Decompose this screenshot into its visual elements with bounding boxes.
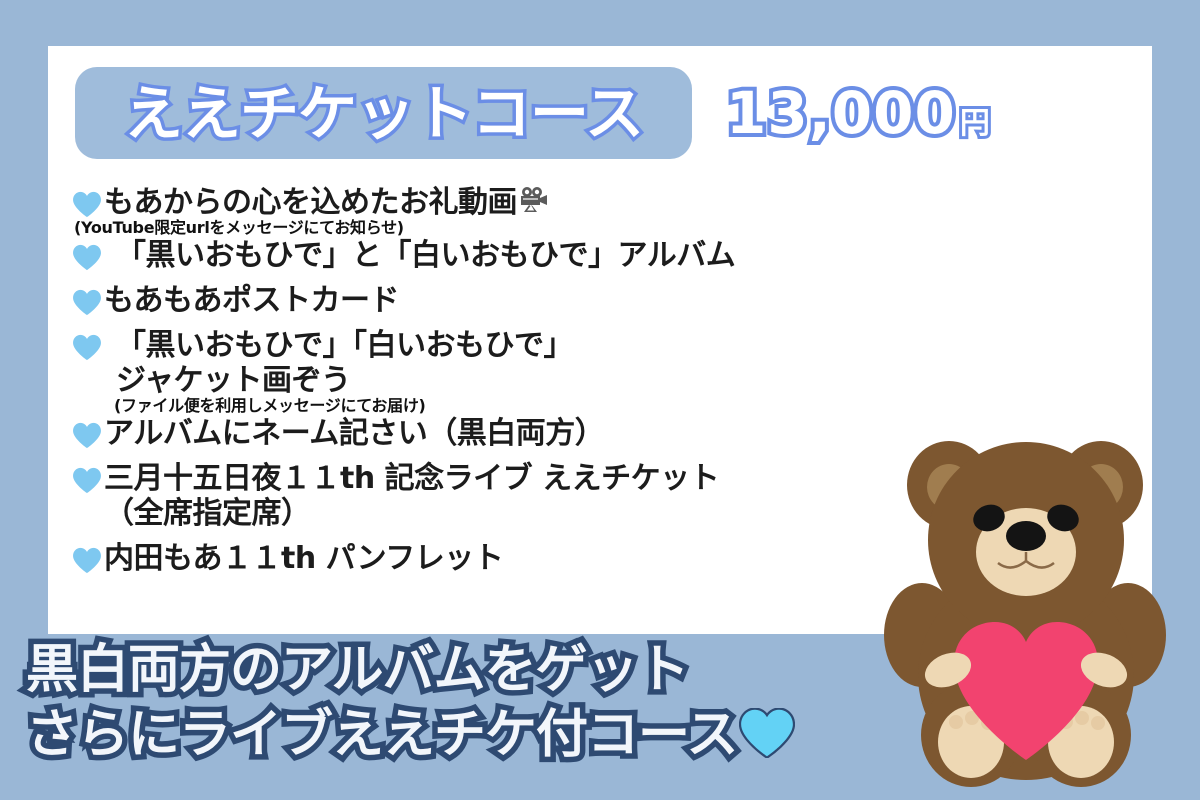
benefit-text: アルバムにネーム記さい（黒白両方） [104,417,604,452]
benefit-item: もあからの心を込めたお礼動画 [72,186,1072,236]
course-title: ええチケットコース [124,84,643,143]
benefit-text: もあもあポストカード [104,284,399,319]
heart-icon [72,334,102,361]
heart-icon [72,422,102,449]
benefit-item: もあもあポストカード [72,284,1072,319]
heart-icon [739,708,795,768]
price-unit: 円 [960,109,990,139]
benefit-text: 「黒いおもひで」「白いおもひで」 ジャケット画ぞう [104,329,573,399]
heart-icon [72,289,102,316]
benefit-text: 内田もあ１１th パンフレット [104,542,503,577]
price-amount: 13,000 [726,84,956,142]
movie-camera-icon [518,186,548,221]
promo-poster: ええチケットコース 13,000 円 もあからの心を込めたお礼動画 [0,0,1200,800]
banner-line-2-wrap: さらにライブええチケ付コース [26,708,795,768]
banner-line-1: 黒白両方のアルバムをゲット [26,644,688,697]
course-header: ええチケットコース 13,000 円 [75,67,990,159]
benefit-item: 「黒いおもひで」と「白いおもひで」アルバム [72,239,1072,274]
teddy-bear-mascot [876,430,1176,790]
benefit-note: (YouTube限定urlをメッセージにてお知らせ) [74,219,1072,237]
heart-icon [72,467,102,494]
heart-icon [72,244,102,271]
course-title-pill: ええチケットコース [75,67,692,159]
benefit-item: 「黒いおもひで」「白いおもひで」 ジャケット画ぞう (ファイル便を利用しメッセー… [72,329,1072,414]
heart-icon [72,547,102,574]
benefit-note: (ファイル便を利用しメッセージにてお届け) [114,397,1072,415]
benefit-text: 「黒いおもひで」と「白いおもひで」アルバム [104,239,735,274]
course-price: 13,000 円 [726,84,990,142]
heart-icon [72,191,102,218]
benefit-text: 三月十五日夜１１th 記念ライブ ええチケット （全席指定席） [104,462,719,532]
banner-line-2: さらにライブええチケ付コース [26,705,737,765]
benefit-text: もあからの心を込めたお礼動画 [104,186,517,221]
